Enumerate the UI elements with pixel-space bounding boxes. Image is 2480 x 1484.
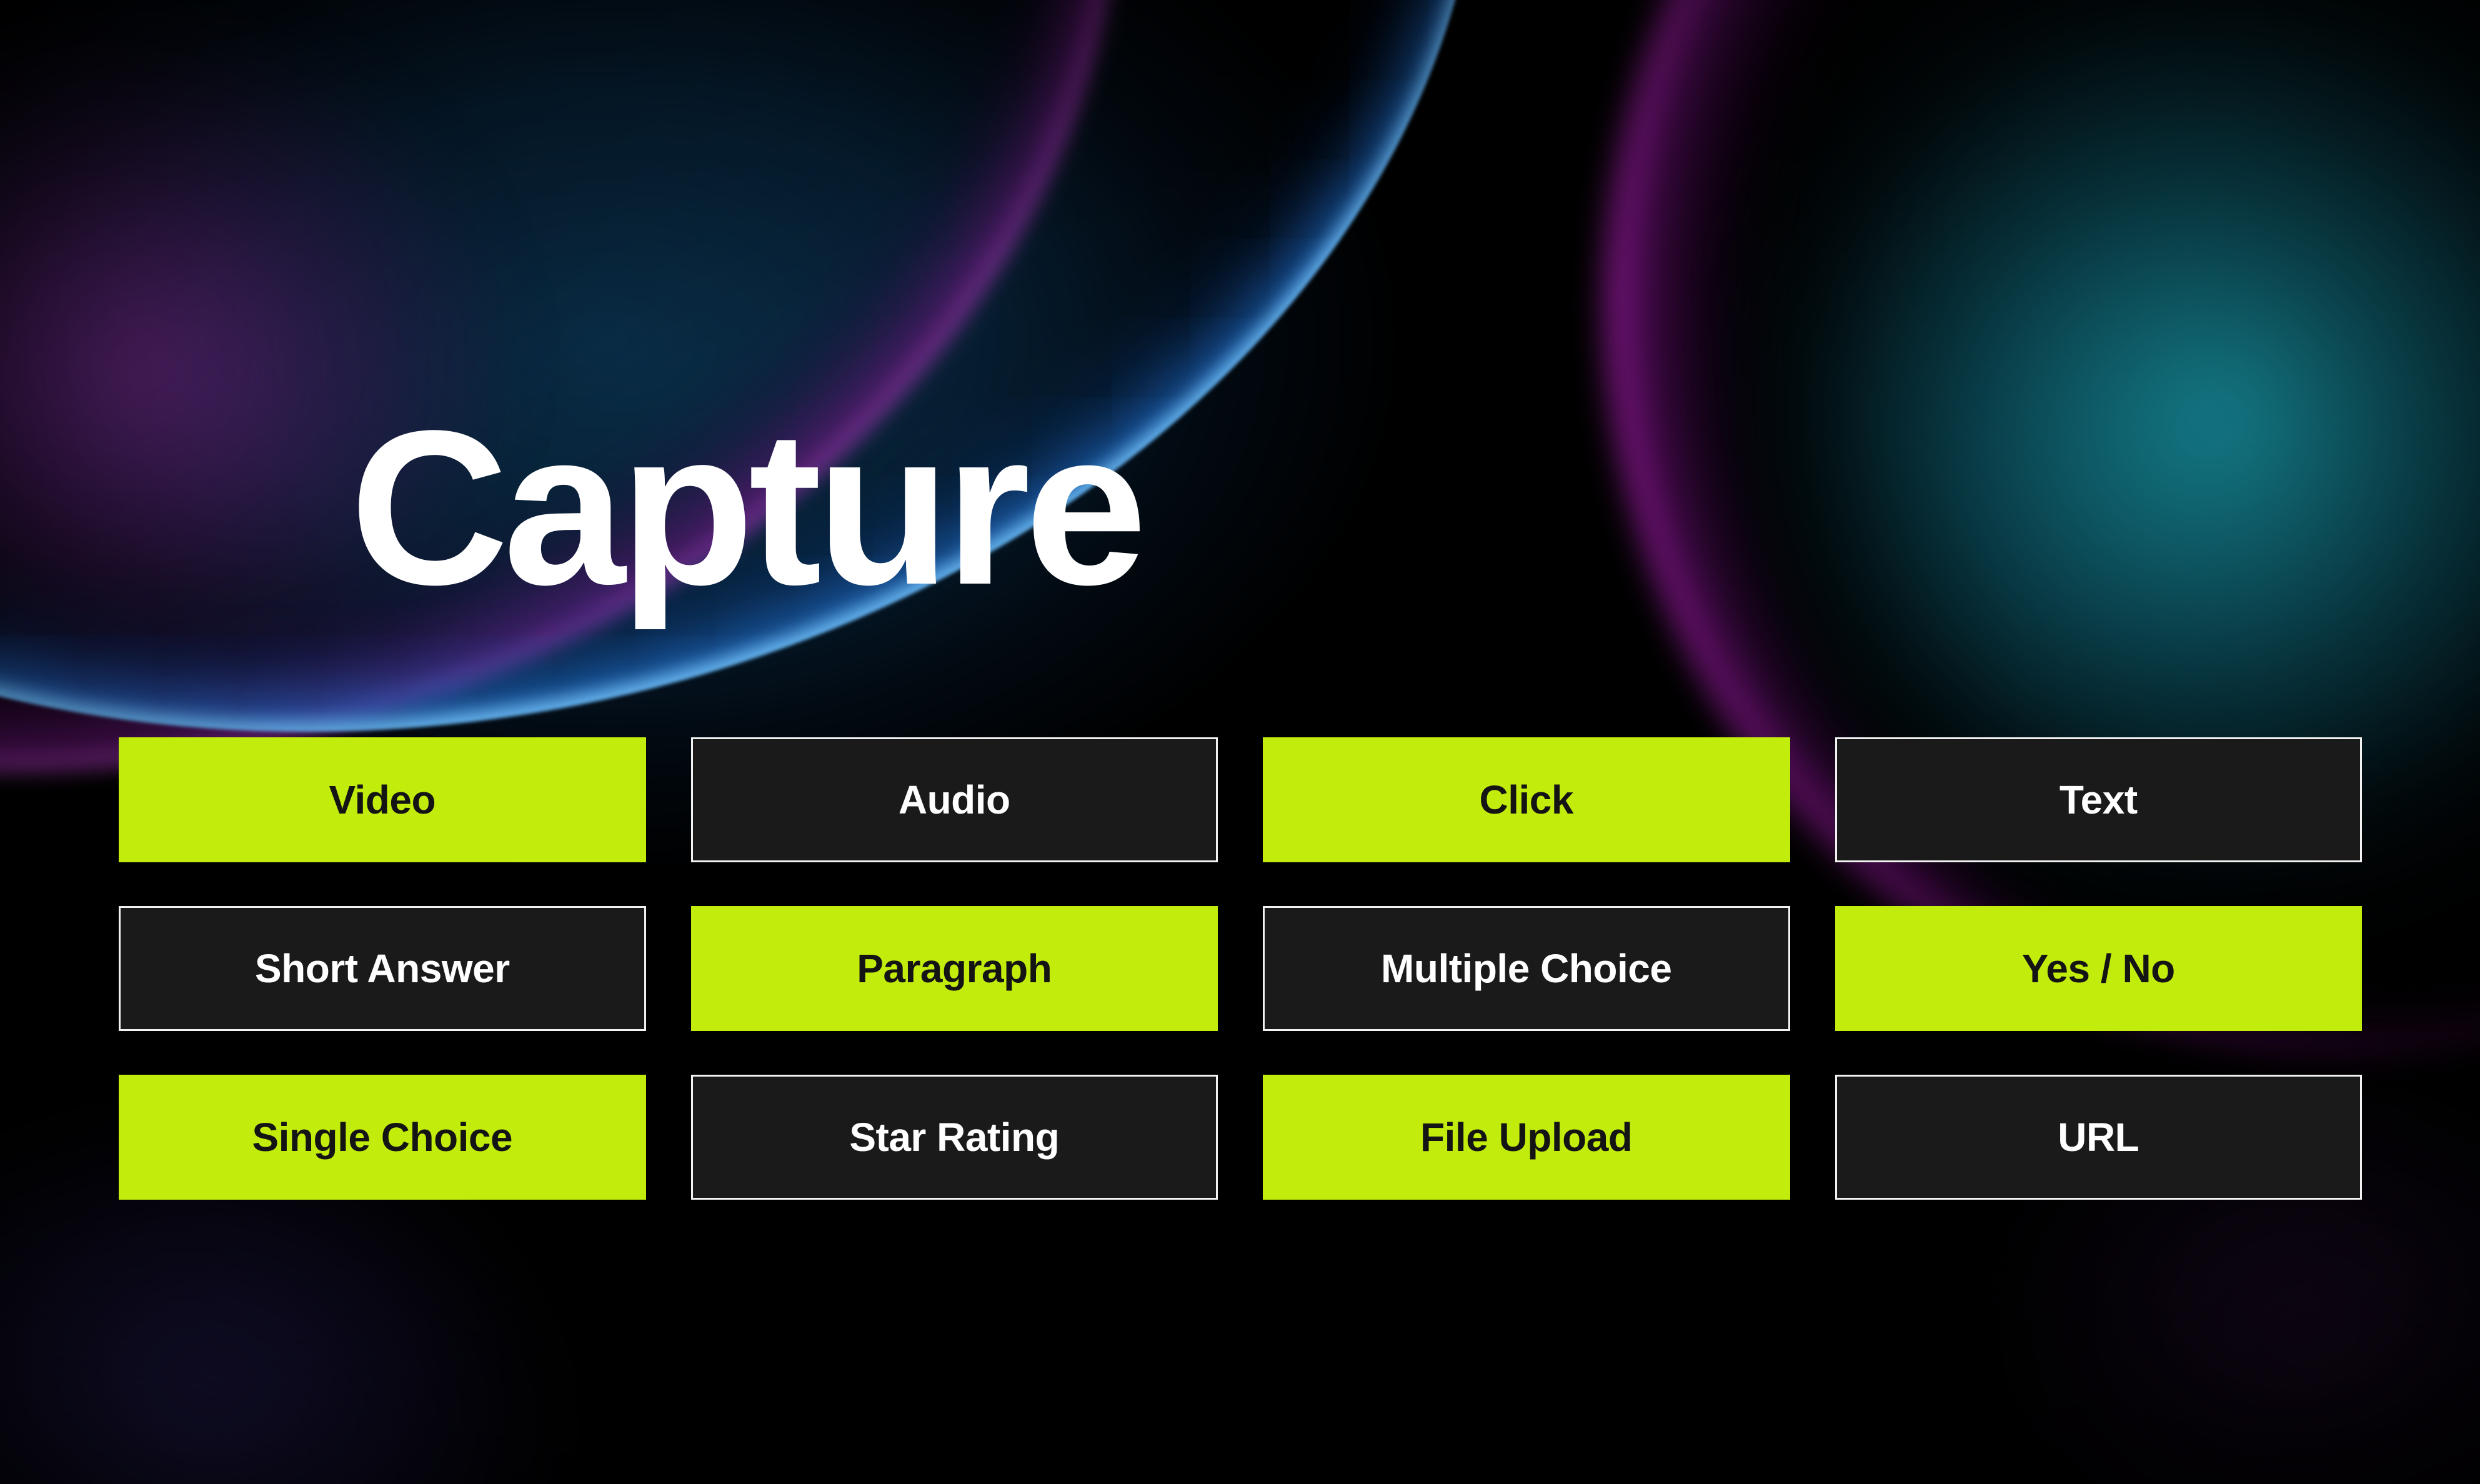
option-button-label: Multiple Choice (1381, 945, 1671, 992)
option-button-short-answer[interactable]: Short Answer (119, 906, 646, 1031)
option-button-yes-no[interactable]: Yes / No (1835, 906, 2363, 1031)
option-button-label: Video (329, 777, 436, 823)
option-button-video[interactable]: Video (119, 737, 646, 862)
slide-canvas: Capture VideoAudioClickTextShort AnswerP… (0, 0, 2480, 1484)
option-button-paragraph[interactable]: Paragraph (691, 906, 1218, 1031)
option-button-click[interactable]: Click (1263, 737, 1790, 862)
option-button-label: Yes / No (2022, 945, 2175, 992)
option-button-label: Single Choice (252, 1114, 512, 1160)
capture-type-grid: VideoAudioClickTextShort AnswerParagraph… (119, 737, 2362, 1200)
option-button-label: Text (2059, 777, 2138, 823)
option-button-label: URL (2058, 1114, 2139, 1160)
option-button-single-choice[interactable]: Single Choice (119, 1075, 646, 1200)
option-button-multiple-choice[interactable]: Multiple Choice (1263, 906, 1790, 1031)
option-button-label: Click (1480, 777, 1573, 823)
option-button-text[interactable]: Text (1835, 737, 2363, 862)
page-title: Capture (350, 397, 1142, 617)
option-button-url[interactable]: URL (1835, 1075, 2363, 1200)
option-button-label: Paragraph (857, 945, 1052, 992)
option-button-star-rating[interactable]: Star Rating (691, 1075, 1218, 1200)
option-button-label: Star Rating (849, 1114, 1059, 1160)
option-button-label: Audio (899, 777, 1010, 823)
option-button-file-upload[interactable]: File Upload (1263, 1075, 1790, 1200)
option-button-audio[interactable]: Audio (691, 737, 1218, 862)
option-button-label: File Upload (1420, 1114, 1632, 1160)
option-button-label: Short Answer (255, 945, 510, 992)
